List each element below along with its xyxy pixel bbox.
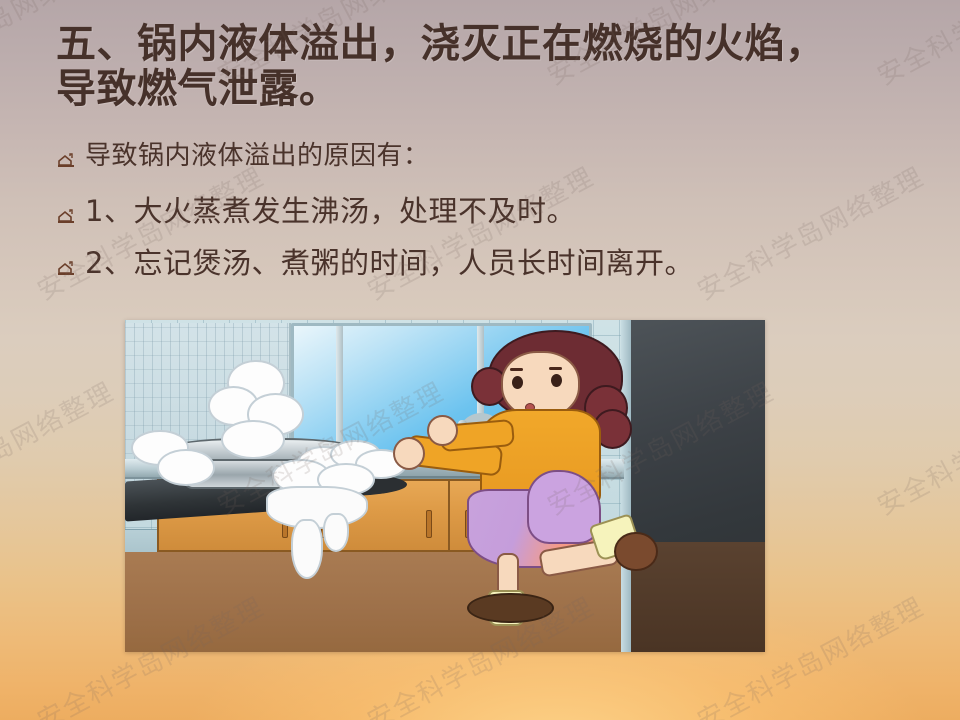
eye: [512, 376, 523, 389]
list-item: 导致锅内液体溢出的原因有：: [56, 140, 936, 173]
list-item-label: 1、大火蒸煮发生沸汤，处理不及时。: [85, 193, 576, 229]
eyebrow: [510, 368, 523, 371]
hand: [427, 415, 457, 446]
house-bullet-icon: [56, 257, 76, 277]
bullet-list: 导致锅内液体溢出的原因有： 1、大火蒸煮发生沸汤，处理不及时。 2、忘记: [56, 140, 936, 297]
slide-title: 五、锅内液体溢出，浇灭正在燃烧的火焰， 导致燃气泄露。: [56, 22, 926, 112]
list-item-label: 导致锅内液体溢出的原因有：: [85, 140, 430, 173]
eyebrow: [549, 367, 562, 370]
floor-mat: [467, 593, 554, 624]
illustration-scene: [125, 320, 765, 652]
title-line-2: 导致燃气泄露。: [56, 67, 926, 112]
slide-canvas: 五、锅内液体溢出，浇灭正在燃烧的火焰， 导致燃气泄露。 导致锅内液体溢出的原因有…: [0, 0, 960, 720]
steam-blob: [157, 449, 215, 486]
shoe: [614, 532, 658, 572]
title-line-1: 五、锅内液体溢出，浇灭正在燃烧的火焰，: [56, 22, 926, 67]
list-item: 1、大火蒸煮发生沸汤，处理不及时。: [56, 193, 936, 229]
list-item: 2、忘记煲汤、煮粥的时间，人员长时间离开。: [56, 245, 936, 281]
woman-character: [458, 330, 676, 635]
kitchen-pot-boil-over-illustration: [125, 320, 765, 652]
watermark-text: 安全科学岛网络整理: [0, 372, 120, 523]
house-bullet-icon: [56, 149, 76, 169]
cabinet-divider: [448, 481, 450, 550]
cabinet-handle[interactable]: [426, 510, 432, 538]
steam-blob: [221, 420, 285, 460]
window-mullion: [336, 326, 343, 459]
watermark-text: 安全科学岛网络整理: [870, 372, 960, 523]
house-bullet-icon: [56, 205, 76, 225]
list-item-label: 2、忘记煲汤、煮粥的时间，人员长时间离开。: [85, 245, 694, 281]
